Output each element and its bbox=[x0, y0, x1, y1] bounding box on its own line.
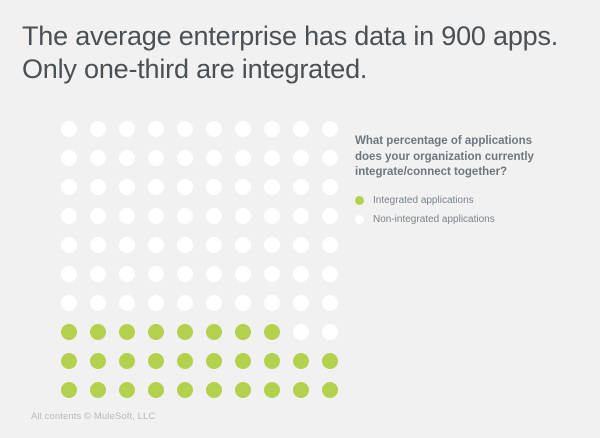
waffle-cell bbox=[199, 317, 228, 346]
non-integrated-app-dot bbox=[61, 208, 77, 224]
non-integrated-app-dot bbox=[235, 237, 251, 253]
waffle-cell bbox=[112, 259, 141, 288]
non-integrated-app-dot bbox=[206, 121, 222, 137]
waffle-cell bbox=[228, 114, 257, 143]
legend-swatch-circle-icon bbox=[355, 215, 364, 224]
waffle-cell bbox=[170, 375, 199, 404]
non-integrated-app-dot bbox=[235, 295, 251, 311]
waffle-cell bbox=[199, 201, 228, 230]
waffle-cell bbox=[83, 230, 112, 259]
waffle-cell bbox=[315, 288, 344, 317]
waffle-cell bbox=[199, 288, 228, 317]
title-line-2: Only one-third are integrated. bbox=[22, 53, 582, 86]
waffle-cell bbox=[170, 114, 199, 143]
waffle-cell bbox=[315, 317, 344, 346]
integrated-app-dot bbox=[61, 324, 77, 340]
legend-question-text: What percentage of applications does you… bbox=[355, 134, 535, 181]
non-integrated-app-dot bbox=[119, 150, 135, 166]
non-integrated-app-dot bbox=[148, 179, 164, 195]
waffle-cell bbox=[141, 288, 170, 317]
waffle-cell bbox=[170, 346, 199, 375]
waffle-cell bbox=[286, 259, 315, 288]
non-integrated-app-dot bbox=[322, 324, 338, 340]
waffle-cell bbox=[257, 172, 286, 201]
waffle-cell bbox=[112, 288, 141, 317]
non-integrated-app-dot bbox=[322, 266, 338, 282]
legend-item[interactable]: Non-integrated applications bbox=[355, 214, 555, 226]
non-integrated-app-dot bbox=[293, 150, 309, 166]
integrated-app-dot bbox=[293, 353, 309, 369]
non-integrated-app-dot bbox=[264, 150, 280, 166]
waffle-cell bbox=[141, 346, 170, 375]
waffle-cell bbox=[112, 143, 141, 172]
integrated-app-dot bbox=[90, 382, 106, 398]
waffle-cell bbox=[315, 201, 344, 230]
waffle-cell bbox=[83, 201, 112, 230]
waffle-cell bbox=[54, 346, 83, 375]
waffle-cell bbox=[112, 317, 141, 346]
waffle-cell bbox=[83, 143, 112, 172]
integrated-app-dot bbox=[206, 324, 222, 340]
waffle-cell bbox=[286, 346, 315, 375]
waffle-cell bbox=[170, 230, 199, 259]
waffle-cell bbox=[228, 230, 257, 259]
non-integrated-app-dot bbox=[148, 295, 164, 311]
integrated-app-dot bbox=[206, 353, 222, 369]
waffle-cell bbox=[228, 259, 257, 288]
integrated-app-dot bbox=[177, 353, 193, 369]
non-integrated-app-dot bbox=[148, 266, 164, 282]
non-integrated-app-dot bbox=[148, 121, 164, 137]
integrated-app-dot bbox=[119, 324, 135, 340]
non-integrated-app-dot bbox=[206, 179, 222, 195]
non-integrated-app-dot bbox=[293, 179, 309, 195]
waffle-cell bbox=[54, 317, 83, 346]
non-integrated-app-dot bbox=[264, 266, 280, 282]
waffle-cell bbox=[141, 317, 170, 346]
non-integrated-app-dot bbox=[119, 179, 135, 195]
waffle-cell bbox=[54, 259, 83, 288]
waffle-cell bbox=[83, 288, 112, 317]
non-integrated-app-dot bbox=[177, 208, 193, 224]
waffle-cell bbox=[257, 143, 286, 172]
integrated-app-dot bbox=[235, 324, 251, 340]
integrated-app-dot bbox=[119, 382, 135, 398]
waffle-cell bbox=[54, 201, 83, 230]
waffle-cell bbox=[286, 114, 315, 143]
waffle-cell bbox=[257, 346, 286, 375]
non-integrated-app-dot bbox=[119, 121, 135, 137]
waffle-chart-dot-grid bbox=[54, 114, 344, 404]
integrated-app-dot bbox=[235, 353, 251, 369]
waffle-cell bbox=[315, 346, 344, 375]
waffle-cell bbox=[141, 114, 170, 143]
non-integrated-app-dot bbox=[119, 208, 135, 224]
waffle-cell bbox=[315, 114, 344, 143]
waffle-cell bbox=[141, 375, 170, 404]
waffle-cell bbox=[257, 317, 286, 346]
waffle-cell bbox=[83, 375, 112, 404]
waffle-cell bbox=[170, 317, 199, 346]
non-integrated-app-dot bbox=[177, 266, 193, 282]
non-integrated-app-dot bbox=[235, 121, 251, 137]
waffle-cell bbox=[286, 201, 315, 230]
waffle-cell bbox=[199, 230, 228, 259]
non-integrated-app-dot bbox=[90, 208, 106, 224]
non-integrated-app-dot bbox=[293, 324, 309, 340]
waffle-cell bbox=[228, 143, 257, 172]
legend-item-list: Integrated applicationsNon-integrated ap… bbox=[355, 195, 555, 226]
waffle-cell bbox=[257, 201, 286, 230]
waffle-cell bbox=[315, 375, 344, 404]
waffle-cell bbox=[112, 172, 141, 201]
waffle-cell bbox=[257, 259, 286, 288]
waffle-cell bbox=[315, 230, 344, 259]
integrated-app-dot bbox=[148, 324, 164, 340]
non-integrated-app-dot bbox=[177, 121, 193, 137]
non-integrated-app-dot bbox=[90, 179, 106, 195]
waffle-cell bbox=[257, 114, 286, 143]
waffle-cell bbox=[228, 317, 257, 346]
waffle-cell bbox=[199, 259, 228, 288]
legend-item-label: Integrated applications bbox=[373, 195, 474, 207]
integrated-app-dot bbox=[90, 324, 106, 340]
waffle-cell bbox=[141, 143, 170, 172]
waffle-cell bbox=[83, 317, 112, 346]
waffle-cell bbox=[257, 230, 286, 259]
non-integrated-app-dot bbox=[148, 208, 164, 224]
waffle-cell bbox=[54, 172, 83, 201]
non-integrated-app-dot bbox=[293, 237, 309, 253]
waffle-cell bbox=[170, 288, 199, 317]
waffle-cell bbox=[112, 346, 141, 375]
non-integrated-app-dot bbox=[177, 295, 193, 311]
non-integrated-app-dot bbox=[206, 266, 222, 282]
waffle-cell bbox=[286, 143, 315, 172]
non-integrated-app-dot bbox=[90, 150, 106, 166]
waffle-cell bbox=[228, 346, 257, 375]
non-integrated-app-dot bbox=[322, 121, 338, 137]
non-integrated-app-dot bbox=[322, 179, 338, 195]
waffle-cell bbox=[228, 375, 257, 404]
non-integrated-app-dot bbox=[322, 237, 338, 253]
non-integrated-app-dot bbox=[235, 179, 251, 195]
waffle-cell bbox=[141, 172, 170, 201]
non-integrated-app-dot bbox=[177, 237, 193, 253]
page-title: The average enterprise has data in 900 a… bbox=[22, 20, 582, 86]
waffle-cell bbox=[228, 172, 257, 201]
integrated-app-dot bbox=[119, 353, 135, 369]
waffle-cell bbox=[315, 259, 344, 288]
non-integrated-app-dot bbox=[177, 179, 193, 195]
legend-item-label: Non-integrated applications bbox=[373, 214, 495, 226]
waffle-cell bbox=[199, 143, 228, 172]
waffle-cell bbox=[199, 172, 228, 201]
non-integrated-app-dot bbox=[293, 121, 309, 137]
non-integrated-app-dot bbox=[264, 208, 280, 224]
non-integrated-app-dot bbox=[61, 150, 77, 166]
non-integrated-app-dot bbox=[90, 266, 106, 282]
non-integrated-app-dot bbox=[119, 237, 135, 253]
non-integrated-app-dot bbox=[293, 208, 309, 224]
waffle-cell bbox=[286, 230, 315, 259]
integrated-app-dot bbox=[61, 353, 77, 369]
waffle-cell bbox=[54, 230, 83, 259]
non-integrated-app-dot bbox=[119, 295, 135, 311]
waffle-cell bbox=[315, 143, 344, 172]
integrated-app-dot bbox=[293, 382, 309, 398]
waffle-cell bbox=[286, 288, 315, 317]
legend-swatch-circle-icon bbox=[355, 196, 364, 205]
non-integrated-app-dot bbox=[61, 179, 77, 195]
waffle-cell bbox=[286, 317, 315, 346]
waffle-cell bbox=[54, 375, 83, 404]
non-integrated-app-dot bbox=[206, 208, 222, 224]
waffle-cell bbox=[170, 143, 199, 172]
non-integrated-app-dot bbox=[61, 237, 77, 253]
waffle-cell bbox=[83, 259, 112, 288]
non-integrated-app-dot bbox=[61, 121, 77, 137]
chart-legend: What percentage of applications does you… bbox=[355, 134, 555, 233]
waffle-cell bbox=[170, 201, 199, 230]
non-integrated-app-dot bbox=[206, 237, 222, 253]
waffle-cell bbox=[199, 375, 228, 404]
integrated-app-dot bbox=[322, 353, 338, 369]
waffle-cell bbox=[112, 375, 141, 404]
waffle-cell bbox=[286, 375, 315, 404]
non-integrated-app-dot bbox=[235, 150, 251, 166]
non-integrated-app-dot bbox=[235, 266, 251, 282]
integrated-app-dot bbox=[206, 382, 222, 398]
non-integrated-app-dot bbox=[206, 295, 222, 311]
integrated-app-dot bbox=[177, 324, 193, 340]
non-integrated-app-dot bbox=[264, 121, 280, 137]
non-integrated-app-dot bbox=[293, 295, 309, 311]
waffle-cell bbox=[112, 114, 141, 143]
waffle-cell bbox=[83, 172, 112, 201]
waffle-cell bbox=[228, 288, 257, 317]
non-integrated-app-dot bbox=[177, 150, 193, 166]
non-integrated-app-dot bbox=[119, 266, 135, 282]
waffle-cell bbox=[199, 114, 228, 143]
waffle-cell bbox=[170, 259, 199, 288]
integrated-app-dot bbox=[177, 382, 193, 398]
non-integrated-app-dot bbox=[293, 266, 309, 282]
integrated-app-dot bbox=[235, 382, 251, 398]
non-integrated-app-dot bbox=[61, 266, 77, 282]
footer-copyright: All contents © MuleSoft, LLC bbox=[31, 411, 155, 422]
integrated-app-dot bbox=[264, 324, 280, 340]
waffle-cell bbox=[141, 259, 170, 288]
non-integrated-app-dot bbox=[322, 295, 338, 311]
non-integrated-app-dot bbox=[148, 237, 164, 253]
integrated-app-dot bbox=[61, 382, 77, 398]
waffle-cell bbox=[83, 114, 112, 143]
waffle-cell bbox=[54, 288, 83, 317]
waffle-cell bbox=[257, 375, 286, 404]
waffle-cell bbox=[286, 172, 315, 201]
waffle-cell bbox=[228, 201, 257, 230]
waffle-cell bbox=[112, 230, 141, 259]
waffle-cell bbox=[257, 288, 286, 317]
integrated-app-dot bbox=[322, 382, 338, 398]
waffle-cell bbox=[141, 230, 170, 259]
non-integrated-app-dot bbox=[322, 150, 338, 166]
integrated-app-dot bbox=[148, 382, 164, 398]
non-integrated-app-dot bbox=[264, 237, 280, 253]
non-integrated-app-dot bbox=[264, 179, 280, 195]
non-integrated-app-dot bbox=[235, 208, 251, 224]
non-integrated-app-dot bbox=[90, 121, 106, 137]
non-integrated-app-dot bbox=[148, 150, 164, 166]
non-integrated-app-dot bbox=[90, 237, 106, 253]
waffle-cell bbox=[199, 346, 228, 375]
waffle-cell bbox=[54, 143, 83, 172]
integrated-app-dot bbox=[90, 353, 106, 369]
waffle-cell bbox=[141, 201, 170, 230]
waffle-cell bbox=[315, 172, 344, 201]
waffle-cell bbox=[170, 172, 199, 201]
waffle-cell bbox=[54, 114, 83, 143]
non-integrated-app-dot bbox=[90, 295, 106, 311]
integrated-app-dot bbox=[148, 353, 164, 369]
title-line-1: The average enterprise has data in 900 a… bbox=[22, 20, 582, 53]
legend-item[interactable]: Integrated applications bbox=[355, 195, 555, 207]
non-integrated-app-dot bbox=[61, 295, 77, 311]
non-integrated-app-dot bbox=[322, 208, 338, 224]
non-integrated-app-dot bbox=[264, 295, 280, 311]
waffle-cell bbox=[83, 346, 112, 375]
non-integrated-app-dot bbox=[206, 150, 222, 166]
integrated-app-dot bbox=[264, 353, 280, 369]
waffle-cell bbox=[112, 201, 141, 230]
integrated-app-dot bbox=[264, 382, 280, 398]
